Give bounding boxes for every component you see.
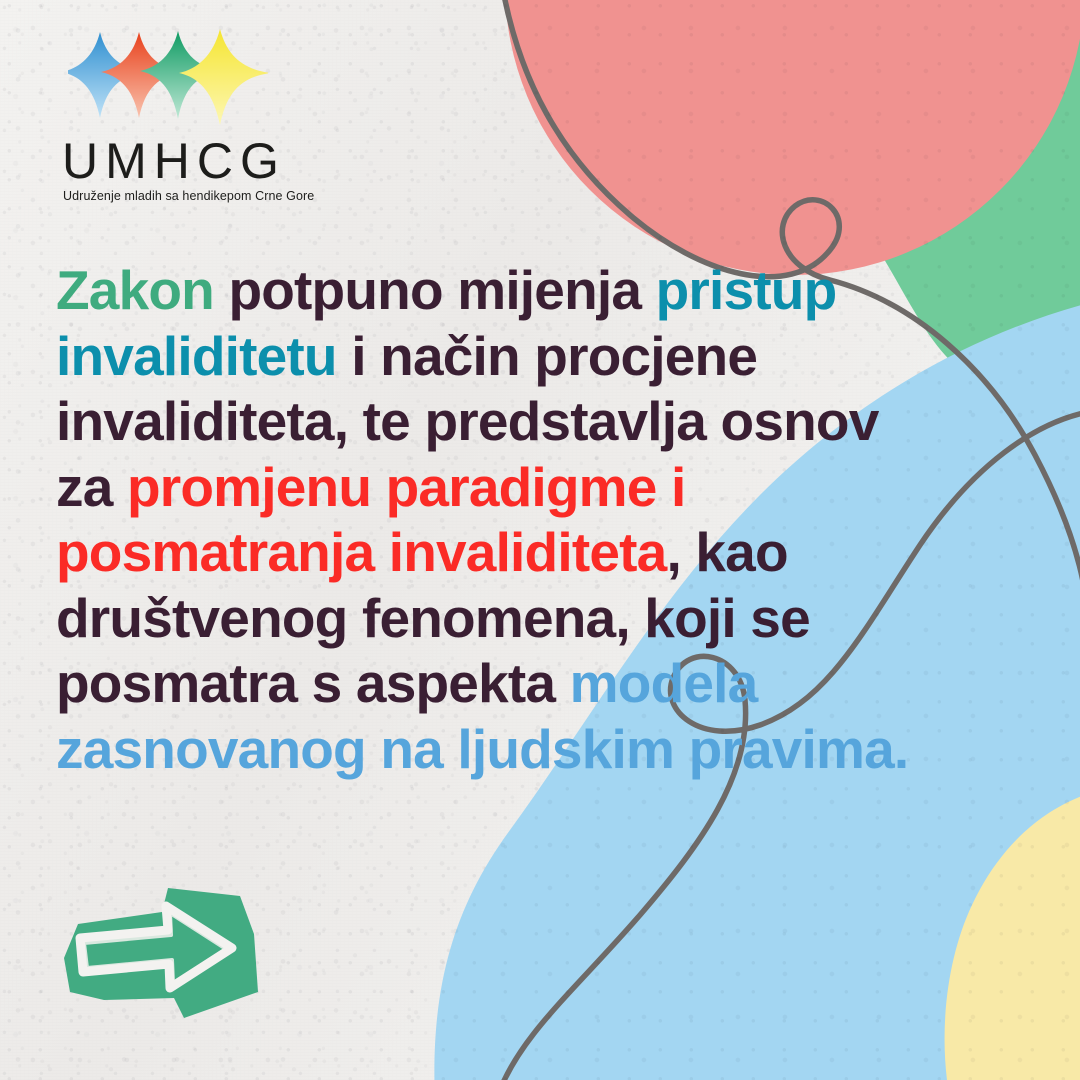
headline-segment-4: promjenu paradigme i posmatranja invalid… [56,456,700,584]
four-pointed-star-cluster-icon [68,26,268,134]
right-arrow-icon [58,880,290,1025]
social-post-canvas: UMHCG Udruženje mladih sa hendikepom Crn… [0,0,1080,1080]
logo-star-yellow [179,29,268,125]
headline-segment-1: potpuno mijenja [214,259,656,321]
logo-wordmark: UMHCG [62,136,326,186]
headline-segment-0: Zakon [56,259,214,321]
umhcg-logo: UMHCG Udruženje mladih sa hendikepom Crn… [56,26,326,203]
headline-text: Zakon potpuno mijenja pristup invalidite… [56,258,936,782]
logo-tagline: Udruženje mladih sa hendikepom Crne Gore [63,189,326,203]
